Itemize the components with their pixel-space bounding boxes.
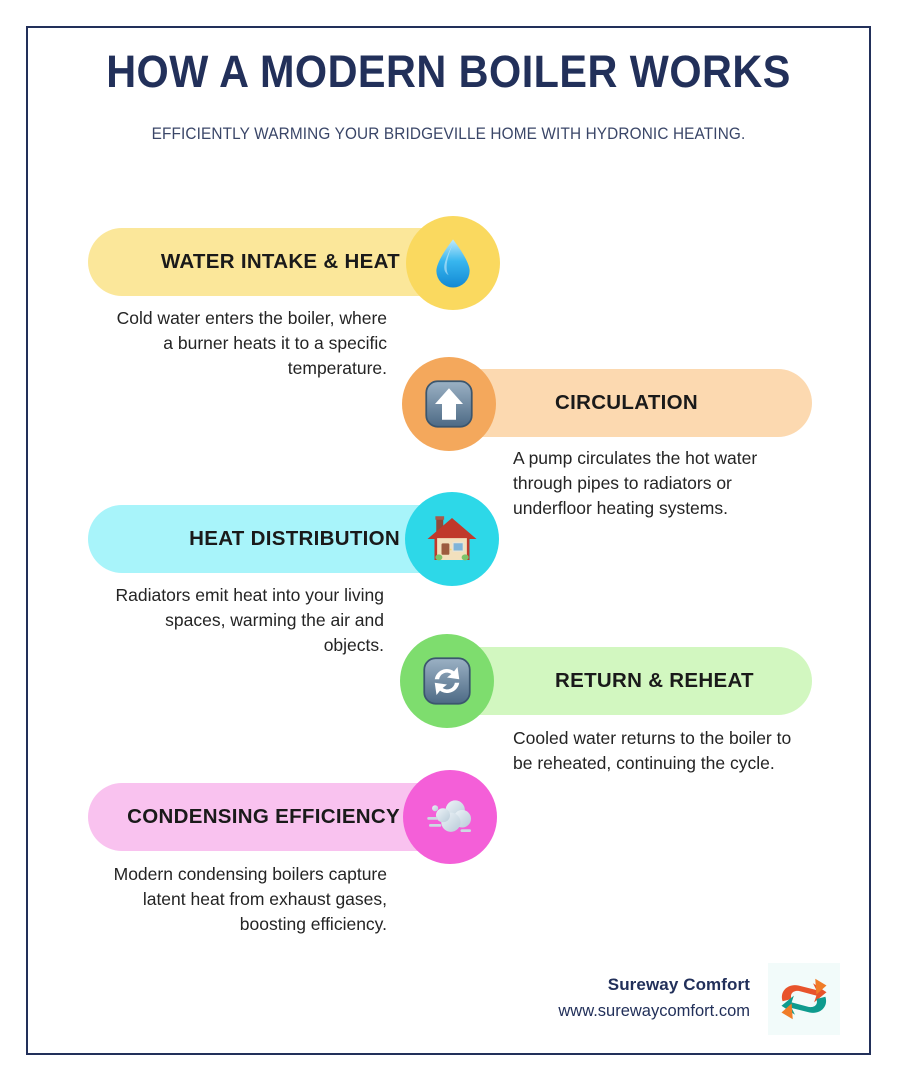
step-4-pill[interactable]: RETURN & REHEAT [440, 647, 812, 715]
infographic-page: HOW A MODERN BOILER WORKS EFFICIENTLY WA… [0, 0, 900, 1080]
step-1-pill[interactable]: WATER INTAKE & HEAT [88, 228, 460, 296]
step-3-label: HEAT DISTRIBUTION [189, 527, 400, 551]
step-4-description: Cooled water returns to the boiler to be… [513, 726, 793, 776]
arrows-counterclockwise-icon [400, 634, 494, 728]
step-2-description: A pump circulates the hot water through … [513, 446, 803, 521]
up-arrow-button-icon [402, 357, 496, 451]
page-subtitle: EFFICIENTLY WARMING YOUR BRIDGEVILLE HOM… [56, 125, 842, 144]
dashing-away-puff-icon [403, 770, 497, 864]
step-2-label: CIRCULATION [555, 391, 698, 415]
step-1-label: WATER INTAKE & HEAT [161, 250, 400, 274]
step-3-description: Radiators emit heat into your living spa… [102, 583, 384, 658]
step-1-description: Cold water enters the boiler, where a bu… [105, 306, 387, 381]
brand-name: Sureway Comfort [500, 975, 750, 995]
footer-text: Sureway Comfort www.surewaycomfort.com [500, 975, 750, 1021]
page-title: HOW A MODERN BOILER WORKS [60, 48, 837, 95]
step-5-description: Modern condensing boilers capture latent… [105, 862, 387, 937]
step-5-label: CONDENSING EFFICIENCY [127, 805, 400, 829]
water-droplet-icon [406, 216, 500, 310]
house-icon [405, 492, 499, 586]
sureway-s-arrow-logo-icon [768, 963, 840, 1035]
website-url[interactable]: www.surewaycomfort.com [500, 1002, 750, 1021]
footer: Sureway Comfort www.surewaycomfort.com [480, 975, 840, 1055]
header: HOW A MODERN BOILER WORKS EFFICIENTLY WA… [26, 48, 871, 144]
step-4-label: RETURN & REHEAT [555, 669, 754, 693]
